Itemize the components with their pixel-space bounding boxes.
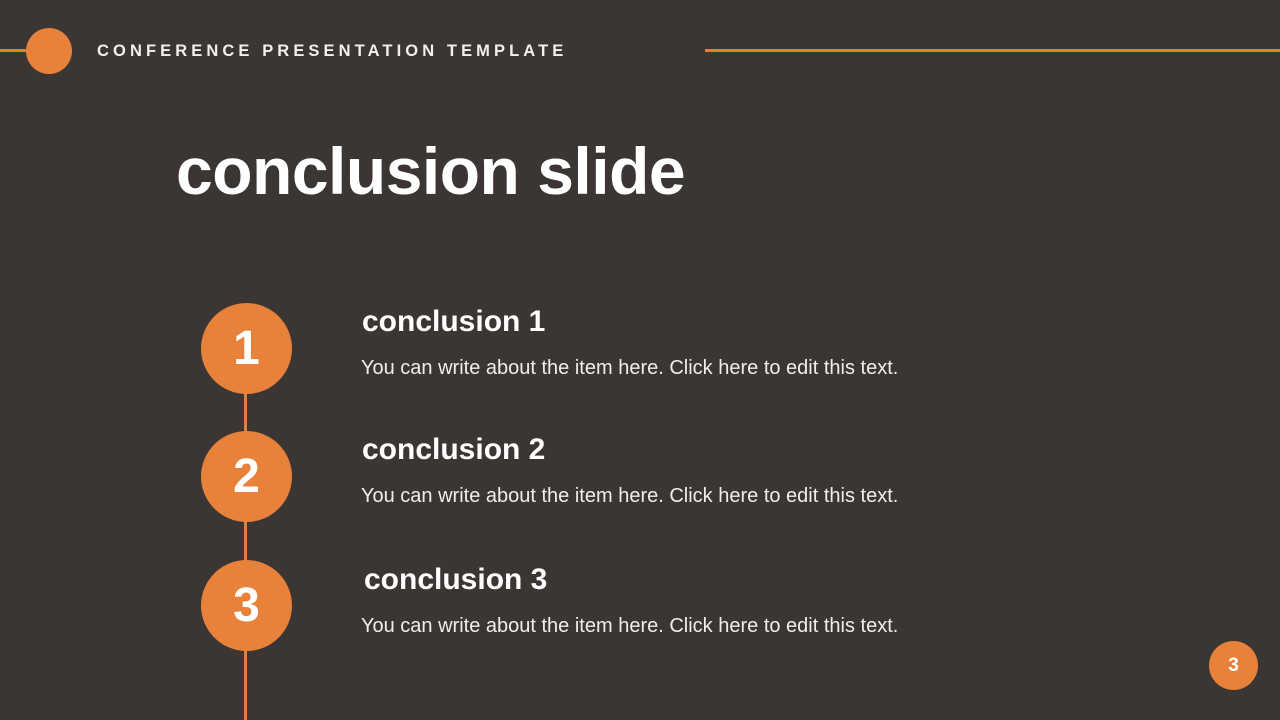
- header-title: CONFERENCE PRESENTATION TEMPLATE: [97, 38, 567, 64]
- timeline-item-3-body: You can write about the item here. Click…: [361, 612, 898, 640]
- timeline-item-2-heading: conclusion 2: [362, 432, 898, 468]
- header-rule-right: [705, 49, 1280, 52]
- page-title: conclusion slide: [176, 132, 685, 210]
- page-number-badge: 3: [1209, 641, 1258, 690]
- timeline-bullet-1: 1: [201, 303, 292, 394]
- timeline-item-2-body: You can write about the item here. Click…: [361, 482, 898, 510]
- timeline-bullet-2: 2: [201, 431, 292, 522]
- header-dot-icon: [26, 28, 72, 74]
- timeline-item-2-text: conclusion 2 You can write about the ite…: [362, 432, 898, 510]
- timeline-item-1-body: You can write about the item here. Click…: [361, 354, 898, 382]
- timeline-item-1-text: conclusion 1 You can write about the ite…: [362, 304, 898, 382]
- presentation-slide: CONFERENCE PRESENTATION TEMPLATE conclus…: [0, 0, 1280, 720]
- timeline-item-3-heading: conclusion 3: [364, 562, 898, 598]
- timeline-connector-line: [244, 349, 247, 720]
- timeline-bullet-3: 3: [201, 560, 292, 651]
- timeline-item-1-heading: conclusion 1: [362, 304, 898, 340]
- timeline-item-3-text: conclusion 3 You can write about the ite…: [364, 562, 898, 640]
